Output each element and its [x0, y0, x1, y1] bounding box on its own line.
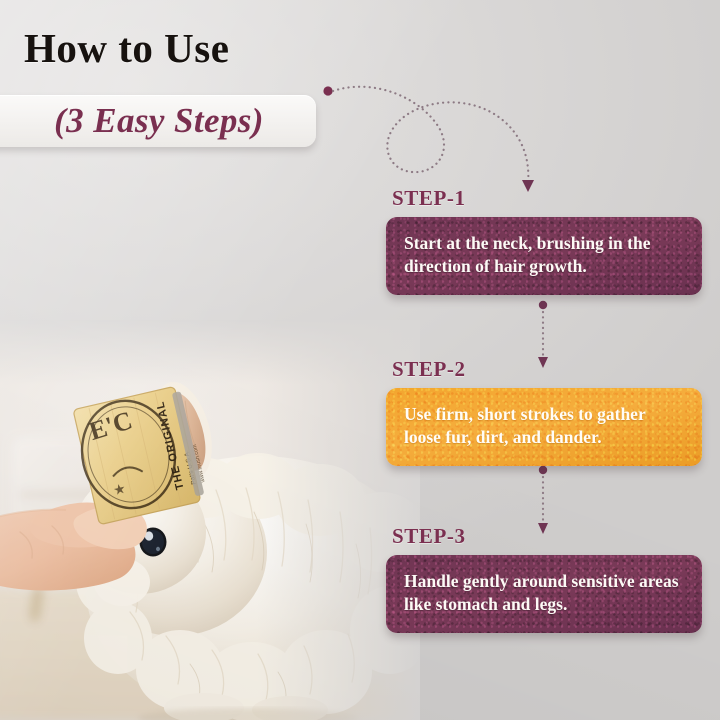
curved-dotted-arrow — [333, 87, 528, 184]
step-3-label: STEP-3 — [392, 524, 702, 549]
step-1: STEP-1 Start at the neck, brushing in th… — [386, 186, 702, 295]
subtitle-badge: (3 Easy Steps) — [0, 95, 316, 147]
connector-1-dot — [539, 301, 547, 309]
poster-canvas: E'C ★ THE ORIGINAL Pat's U.S.A. www.brus… — [0, 0, 720, 720]
page-title: How to Use — [24, 24, 229, 72]
step-2: STEP-2 Use firm, short strokes to gather… — [386, 357, 702, 466]
step-1-text: Start at the neck, brushing in the direc… — [404, 232, 684, 279]
step-1-label: STEP-1 — [392, 186, 702, 211]
step-2-text: Use firm, short strokes to gather loose … — [404, 403, 684, 450]
step-3: STEP-3 Handle gently around sensitive ar… — [386, 524, 702, 633]
subtitle-badge-label: (3 Easy Steps) — [36, 101, 264, 141]
product-demo-photo: E'C ★ THE ORIGINAL Pat's U.S.A. www.brus… — [0, 320, 420, 720]
connector-2-dot — [539, 466, 547, 474]
step-1-box: Start at the neck, brushing in the direc… — [386, 217, 702, 295]
curve-start-dot — [323, 86, 332, 95]
step-3-text: Handle gently around sensitive areas lik… — [404, 570, 684, 617]
step-2-label: STEP-2 — [392, 357, 702, 382]
step-2-box: Use firm, short strokes to gather loose … — [386, 388, 702, 466]
step-3-box: Handle gently around sensitive areas lik… — [386, 555, 702, 633]
